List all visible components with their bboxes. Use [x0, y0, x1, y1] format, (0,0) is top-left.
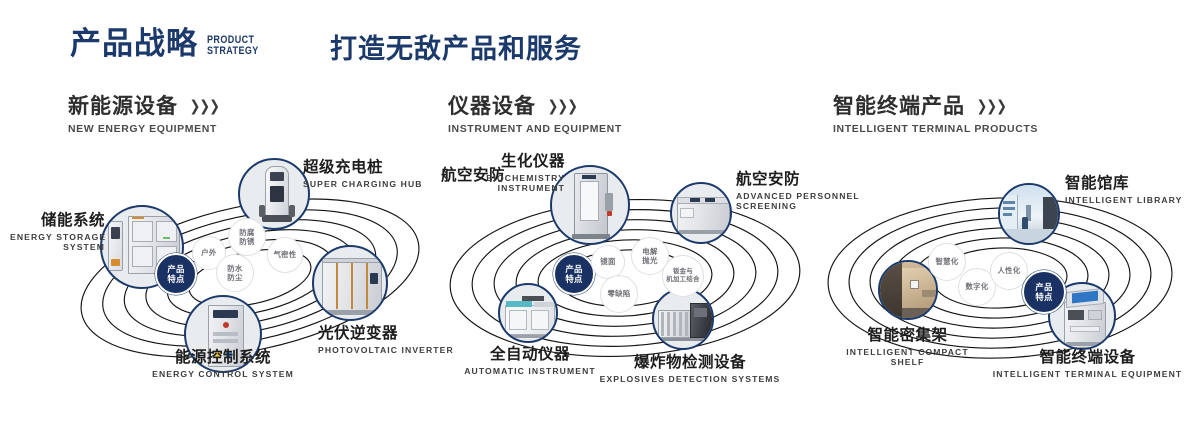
node-label-energy-control-system: 能源控制系统 ENERGY CONTROL SYSTEM: [108, 350, 338, 378]
page-title-cn: 产品战略: [70, 28, 198, 59]
chevron-right-icon: ❯❯❯: [548, 97, 578, 115]
cluster-new-energy: .orbits ellipse{fill:none;stroke:#141414…: [50, 150, 450, 400]
node-label-energy-storage-system: 储能系统 ENERGY STORAGE SYSTEM: [10, 213, 105, 252]
section-title-cn: 智能终端产品: [833, 96, 965, 117]
cluster-instrument: 航空安防 生化仪器 BIOCHEMISTRY INSTRUMENT 航空安防 A…: [425, 150, 825, 400]
node-intelligent-library[interactable]: [998, 183, 1060, 245]
feature-bubble-zero-defect: 零缺陷: [600, 275, 638, 313]
node-explosives-detection-system[interactable]: [652, 288, 714, 350]
feature-badge-main: 产品特点: [155, 253, 197, 295]
section-title-new-energy: 新能源设备❯❯❯ NEW ENERGY EQUIPMENT: [68, 96, 222, 135]
section-title-cn: 仪器设备: [448, 96, 536, 117]
photovoltaic-inverter-image: [314, 247, 386, 319]
chevron-right-icon: ❯❯❯: [977, 97, 1007, 115]
node-label-explosives-detection-system: 爆炸物检测设备 EXPLOSIVES DETECTION SYSTEMS: [585, 355, 795, 383]
page-title: 产品战略 PRODUCT STRATEGY: [70, 28, 270, 59]
explosives-detection-system-image: [654, 290, 712, 348]
intelligent-library-image: [1000, 185, 1058, 243]
chevron-right-icon: ❯❯❯: [190, 97, 220, 115]
feature-badge-main: 产品特点: [1022, 270, 1066, 314]
page-title-en: PRODUCT STRATEGY: [207, 35, 259, 57]
intelligent-compact-shelf-image: [880, 262, 936, 318]
page-title-en-line2: STRATEGY: [207, 46, 259, 57]
section-title-en: NEW ENERGY EQUIPMENT: [68, 124, 222, 135]
section-title-en: INSTRUMENT AND EQUIPMENT: [448, 124, 622, 135]
node-automatic-instrument[interactable]: [498, 283, 558, 343]
feature-bubble-mirror: 镜面: [591, 245, 625, 279]
cluster-intelligent-terminal: 智能馆库 INTELLIGENT LIBRARY 智能密集架 INTELLIGE…: [800, 150, 1200, 400]
section-title-en: INTELLIGENT TERMINAL PRODUCTS: [833, 124, 1038, 135]
section-title-cn: 新能源设备: [68, 96, 178, 117]
node-photovoltaic-inverter[interactable]: [312, 245, 388, 321]
node-label-intelligent-terminal-equipment: 智能终端设备 INTELLIGENT TERMINAL EQUIPMENT: [975, 350, 1200, 378]
section-title-instrument: 仪器设备❯❯❯ INSTRUMENT AND EQUIPMENT: [448, 96, 622, 135]
section-title-intelligent-terminal: 智能终端产品❯❯❯ INTELLIGENT TERMINAL PRODUCTS: [833, 96, 1038, 135]
feature-bubble-intelligent: 智慧化: [928, 243, 966, 281]
automatic-instrument-image: [500, 285, 556, 341]
product-strategy-infographic: 产品战略 PRODUCT STRATEGY 打造无敌产品和服务 新能源设备❯❯❯…: [0, 0, 1200, 422]
feature-bubble-waterproof: 防水防尘: [216, 254, 254, 292]
feature-bubble-anticorrosion: 防腐防锈: [228, 218, 266, 256]
node-label-biochemistry-instrument: 生化仪器 BIOCHEMISTRY INSTRUMENT: [465, 154, 565, 193]
page-subtitle: 打造无敌产品和服务: [330, 36, 582, 63]
feature-badge-main: 产品特点: [553, 253, 595, 295]
advanced-personnel-screening-image: [672, 184, 730, 242]
feature-bubble-sheetmetal-machining: 钣金与机加工结合: [662, 255, 704, 297]
node-advanced-personnel-screening[interactable]: [670, 182, 732, 244]
node-label-intelligent-library: 智能馆库 INTELLIGENT LIBRARY: [1065, 176, 1183, 204]
feature-bubble-airtightness: 气密性: [267, 237, 303, 273]
